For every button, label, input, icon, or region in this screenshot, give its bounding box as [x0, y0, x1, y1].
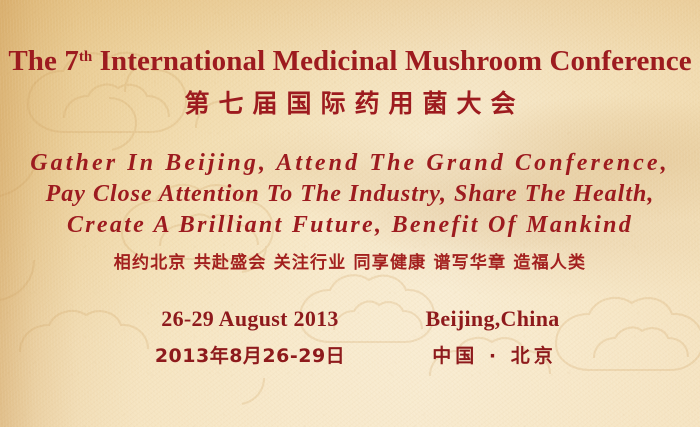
conference-title-chinese: 第七届国际药用菌大会 — [0, 88, 700, 119]
event-date-english: 26-29 August 2013 — [108, 305, 393, 333]
event-location-chinese: 中国 · 北京 — [393, 342, 593, 370]
conference-title-english: The 7th International Medicinal Mushroom… — [0, 47, 700, 76]
slogan-chinese: 相约北京 共赴盛会 关注行业 同享健康 谱写华章 造福人类 — [0, 252, 700, 274]
conference-poster: The 7th International Medicinal Mushroom… — [0, 0, 700, 427]
poster-content: The 7th International Medicinal Mushroom… — [0, 0, 700, 427]
slogan-english: Gather In Beijing, Attend The Grand Conf… — [0, 148, 700, 241]
slogan-line-1: Gather In Beijing, Attend The Grand Conf… — [0, 148, 700, 179]
slogan-line-2: Pay Close Attention To The Industry, Sha… — [0, 179, 700, 210]
event-details-row-english: 26-29 August 2013 Beijing,China — [0, 305, 700, 333]
event-details: 26-29 August 2013 Beijing,China 2013年8月2… — [0, 305, 700, 370]
event-date-chinese: 2013年8月26-29日 — [108, 342, 393, 370]
slogan-line-3: Create A Brilliant Future, Benefit Of Ma… — [0, 210, 700, 241]
title-rest: International Medicinal Mushroom Confere… — [92, 45, 691, 77]
title-prefix: The 7 — [8, 45, 79, 77]
event-location-english: Beijing,China — [393, 305, 593, 333]
event-details-row-chinese: 2013年8月26-29日 中国 · 北京 — [0, 342, 700, 370]
title-ordinal-suffix: th — [79, 49, 92, 65]
